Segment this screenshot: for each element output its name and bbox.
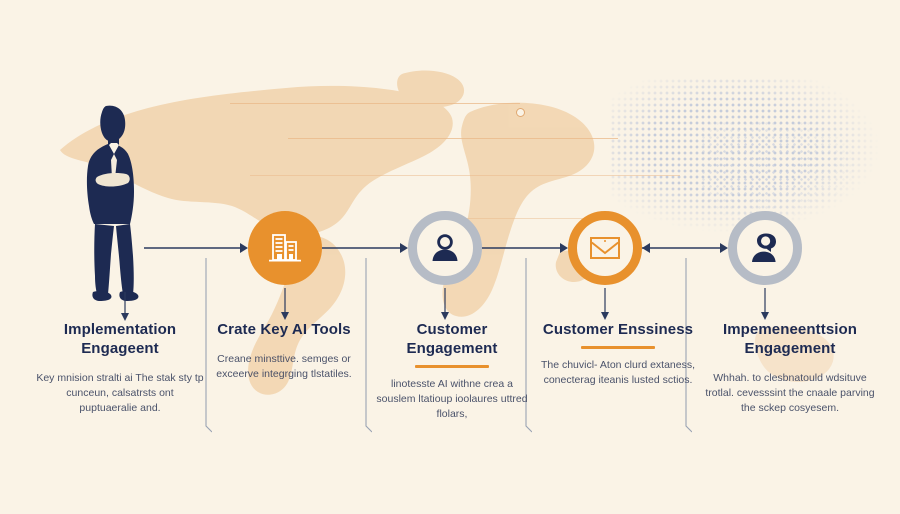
arrow-person-to-step1	[144, 236, 248, 260]
column-impemeneenttsion-engagement: Impemeneenttsion Engagement Whhah. to cl…	[700, 320, 880, 416]
column-implementation-engagement: Implementation Engageent Key mnision str…	[36, 320, 204, 416]
infographic-canvas: Implementation Engageent Key mnision str…	[0, 0, 900, 514]
drop-connector-4	[758, 288, 772, 322]
arrow-step2-to-step3	[482, 236, 568, 260]
column-body: The chuvicl- Aton clurd extaness, conect…	[540, 358, 696, 388]
step-node-3[interactable]	[568, 211, 642, 285]
column-crate-key-ai-tools: Crate Key AI Tools Creane minsttive. sem…	[206, 320, 362, 382]
arrow-step1-to-step2	[322, 236, 408, 260]
user-person-icon	[428, 231, 462, 265]
step-node-2[interactable]	[408, 211, 482, 285]
drop-connector-2	[438, 288, 452, 322]
heading-accent-rule	[415, 365, 489, 368]
drop-connector-1	[278, 288, 292, 322]
drop-connector-3	[598, 288, 612, 322]
column-heading: Impemeneenttsion Engagement	[700, 320, 880, 358]
column-body: Creane minsttive. semges or exceerve int…	[206, 352, 362, 382]
column-body: linotesste AI withne crea a souslem ltat…	[374, 377, 530, 422]
column-body: Key mnision stralti ai The stak sty tp c…	[36, 371, 204, 416]
drop-connector-0	[118, 292, 132, 322]
column-heading: Customer Engagement	[374, 320, 530, 358]
column-heading: Customer Enssiness	[540, 320, 696, 339]
office-building-icon	[265, 228, 305, 268]
column-heading: Implementation Engageent	[36, 320, 204, 358]
column-heading: Crate Key AI Tools	[206, 320, 362, 339]
column-body: Whhah. to clesbnatould wdsituve trotlal.…	[700, 371, 880, 416]
process-flow	[0, 0, 900, 514]
heading-accent-rule	[581, 346, 655, 349]
column-customer-enssiness: Customer Enssiness The chuvicl- Aton clu…	[540, 320, 696, 388]
arrow-step3-to-step4	[642, 236, 728, 260]
user-group-icon	[747, 232, 783, 264]
column-customer-engagement: Customer Engagement linotesste AI withne…	[374, 320, 530, 422]
step-node-1[interactable]	[248, 211, 322, 285]
step-node-4[interactable]	[728, 211, 802, 285]
envelope-mail-icon	[588, 233, 622, 263]
